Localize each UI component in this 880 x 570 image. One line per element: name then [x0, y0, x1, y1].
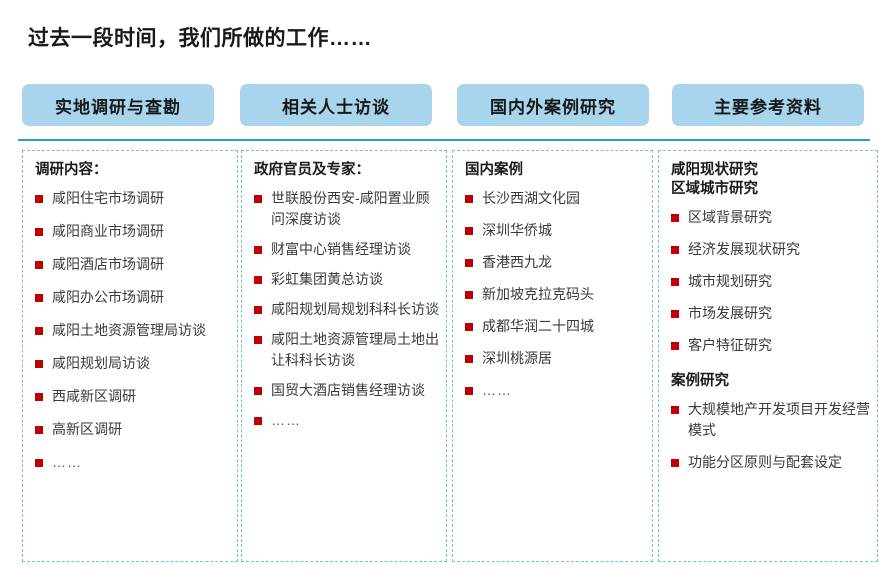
- list-item: 新加坡克拉克码头: [465, 284, 646, 305]
- list-item: 区域背景研究: [671, 207, 871, 228]
- list-item: 咸阳规划局规划科科长访谈: [254, 299, 440, 320]
- section-heading: 政府官员及专家：: [254, 161, 440, 180]
- content-box-0: 调研内容： 咸阳住宅市场调研 咸阳商业市场调研 咸阳酒店市场调研 咸阳办公市场调…: [22, 150, 238, 562]
- list-item: 西咸新区调研: [35, 386, 231, 407]
- list-item: 深圳桃源居: [465, 348, 646, 369]
- header-divider-line: [18, 139, 870, 141]
- list-item: 咸阳办公市场调研: [35, 287, 231, 308]
- list-item: 咸阳酒店市场调研: [35, 254, 231, 275]
- section-heading: 国内案例: [465, 161, 646, 180]
- list-item: 经济发展现状研究: [671, 239, 871, 260]
- list-item: ……: [254, 410, 440, 431]
- list-item: 市场发展研究: [671, 303, 871, 324]
- section-heading: 调研内容：: [35, 161, 231, 180]
- list-item: 咸阳土地资源管理局土地出让科科长访谈: [254, 329, 440, 371]
- list-item: 城市规划研究: [671, 271, 871, 292]
- list-item: 香港西九龙: [465, 252, 646, 273]
- list-item: 咸阳商业市场调研: [35, 221, 231, 242]
- bullet-list: 区域背景研究 经济发展现状研究 城市规划研究 市场发展研究 客户特征研究: [671, 207, 871, 356]
- content-box-1: 政府官员及专家： 世联股份西安-咸阳置业顾问深度访谈 财富中心销售经理访谈 彩虹…: [241, 150, 447, 562]
- list-item: 成都华润二十四城: [465, 316, 646, 337]
- bullet-list: 咸阳住宅市场调研 咸阳商业市场调研 咸阳酒店市场调研 咸阳办公市场调研 咸阳土地…: [35, 188, 231, 473]
- list-item: 咸阳规划局访谈: [35, 353, 231, 374]
- section-heading: 咸阳现状研究 区域城市研究: [671, 161, 871, 199]
- bullet-list: 世联股份西安-咸阳置业顾问深度访谈 财富中心销售经理访谈 彩虹集团黄总访谈 咸阳…: [254, 188, 440, 431]
- list-item: 长沙西湖文化园: [465, 188, 646, 209]
- column-header-1[interactable]: 相关人士访谈: [240, 84, 432, 126]
- slide-root: 过去一段时间，我们所做的工作…… 实地调研与查勘 相关人士访谈 国内外案例研究 …: [0, 0, 880, 570]
- list-item: 功能分区原则与配套设定: [671, 452, 871, 473]
- section-heading: 案例研究: [671, 372, 871, 391]
- column-header-3[interactable]: 主要参考资料: [672, 84, 864, 126]
- list-item: 咸阳土地资源管理局访谈: [35, 320, 231, 341]
- bullet-list: 大规模地产开发项目开发经营模式 功能分区原则与配套设定: [671, 399, 871, 473]
- page-title: 过去一段时间，我们所做的工作……: [28, 22, 372, 52]
- column-header-2[interactable]: 国内外案例研究: [457, 84, 649, 126]
- content-box-2: 国内案例 长沙西湖文化园 深圳华侨城 香港西九龙 新加坡克拉克码头 成都华润二十…: [452, 150, 653, 562]
- list-item: 彩虹集团黄总访谈: [254, 269, 440, 290]
- list-item: 高新区调研: [35, 419, 231, 440]
- content-box-3: 咸阳现状研究 区域城市研究 区域背景研究 经济发展现状研究 城市规划研究 市场发…: [658, 150, 878, 562]
- list-item: 客户特征研究: [671, 335, 871, 356]
- list-item: 大规模地产开发项目开发经营模式: [671, 399, 871, 441]
- list-item: 世联股份西安-咸阳置业顾问深度访谈: [254, 188, 440, 230]
- list-item: ……: [35, 452, 231, 473]
- list-item: ……: [465, 380, 646, 401]
- bullet-list: 长沙西湖文化园 深圳华侨城 香港西九龙 新加坡克拉克码头 成都华润二十四城 深圳…: [465, 188, 646, 401]
- list-item: 国贸大酒店销售经理访谈: [254, 380, 440, 401]
- list-item: 咸阳住宅市场调研: [35, 188, 231, 209]
- list-item: 深圳华侨城: [465, 220, 646, 241]
- list-item: 财富中心销售经理访谈: [254, 239, 440, 260]
- section-heading-line2: 区域城市研究: [671, 180, 871, 199]
- column-header-0[interactable]: 实地调研与查勘: [22, 84, 214, 126]
- section-heading-line1: 咸阳现状研究: [671, 162, 758, 178]
